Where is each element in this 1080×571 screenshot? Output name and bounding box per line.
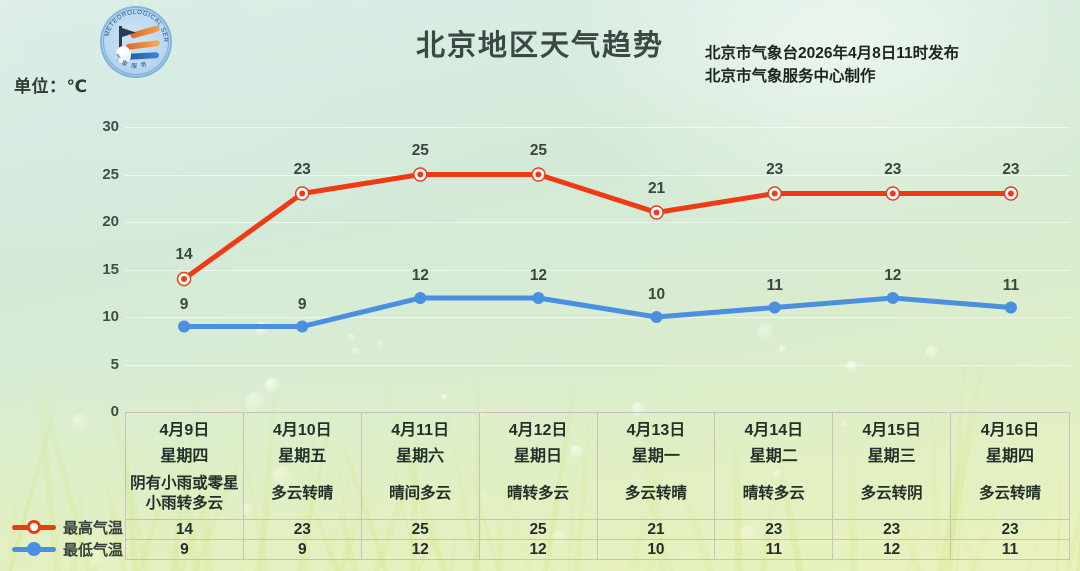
legend-item-high: 最高气温 — [12, 516, 132, 538]
legend-label-low: 最低气温 — [63, 539, 123, 560]
forecast-condition: 多云转晴 — [244, 469, 361, 519]
forecast-condition: 多云转阴 — [833, 469, 950, 519]
forecast-weekday: 星期四 — [126, 439, 243, 469]
forecast-condition: 晴转多云 — [715, 469, 832, 519]
forecast-high-temp: 21 — [598, 519, 715, 539]
forecast-weekday: 星期二 — [715, 439, 832, 469]
low-temp-value-label: 12 — [870, 267, 916, 285]
low-temp-value-label: 11 — [752, 277, 798, 295]
forecast-date: 4月11日 — [362, 413, 479, 439]
forecast-column[interactable]: 4月15日星期三多云转阴2312 — [833, 413, 951, 559]
forecast-high-temp: 25 — [480, 519, 597, 539]
low-temp-marker — [887, 292, 899, 304]
legend-item-low: 最低气温 — [12, 538, 132, 560]
forecast-low-temp: 9 — [244, 539, 361, 559]
forecast-column[interactable]: 4月16日星期四多云转晴2311 — [951, 413, 1069, 559]
forecast-date: 4月13日 — [598, 413, 715, 439]
forecast-column[interactable]: 4月11日星期六晴间多云2512 — [362, 413, 480, 559]
weather-trend-infographic: METEOROLOGICAL SERVICE 气 象 服 务 单位：℃ 北京地区… — [0, 0, 1080, 571]
forecast-date: 4月16日 — [951, 413, 1069, 439]
forecast-high-temp: 23 — [833, 519, 950, 539]
high-temp-value-label: 14 — [161, 246, 207, 264]
high-temp-marker-core — [535, 172, 541, 178]
forecast-column[interactable]: 4月12日星期日晴转多云2512 — [480, 413, 598, 559]
forecast-low-temp: 11 — [715, 539, 832, 559]
high-temp-marker-core — [181, 276, 187, 282]
forecast-weekday: 星期五 — [244, 439, 361, 469]
high-temp-value-label: 23 — [988, 161, 1034, 179]
forecast-high-temp: 25 — [362, 519, 479, 539]
low-temp-marker — [1005, 302, 1017, 314]
high-temp-value-label: 25 — [515, 142, 561, 160]
high-temp-marker-core — [654, 210, 660, 216]
forecast-low-temp: 9 — [126, 539, 243, 559]
high-temp-marker-core — [1008, 191, 1014, 197]
forecast-condition: 多云转晴 — [598, 469, 715, 519]
low-temp-marker — [651, 311, 663, 323]
forecast-weekday: 星期四 — [951, 439, 1069, 469]
forecast-condition: 阴有小雨或零星小雨转多云 — [126, 469, 243, 519]
forecast-low-temp: 11 — [951, 539, 1069, 559]
forecast-high-temp: 23 — [244, 519, 361, 539]
forecast-date: 4月15日 — [833, 413, 950, 439]
forecast-weekday: 星期三 — [833, 439, 950, 469]
high-temp-marker-core — [417, 172, 423, 178]
chart-legend: 最高气温 最低气温 — [12, 516, 132, 560]
low-temp-value-label: 12 — [515, 267, 561, 285]
low-temp-marker — [769, 302, 781, 314]
forecast-date: 4月12日 — [480, 413, 597, 439]
legend-marker-low-icon — [12, 547, 56, 552]
forecast-low-temp: 12 — [362, 539, 479, 559]
forecast-weekday: 星期一 — [598, 439, 715, 469]
forecast-high-temp: 23 — [715, 519, 832, 539]
low-temp-value-label: 11 — [988, 277, 1034, 295]
legend-dot-high-icon — [27, 520, 41, 534]
forecast-date: 4月10日 — [244, 413, 361, 439]
forecast-low-temp: 10 — [598, 539, 715, 559]
low-temp-marker — [296, 321, 308, 333]
low-temp-value-label: 10 — [634, 286, 680, 304]
high-temp-value-label: 23 — [870, 161, 916, 179]
low-temp-value-label: 9 — [161, 296, 207, 314]
low-temp-marker — [414, 292, 426, 304]
forecast-condition: 多云转晴 — [951, 469, 1069, 519]
forecast-date: 4月14日 — [715, 413, 832, 439]
legend-dot-low-icon — [27, 542, 41, 556]
forecast-condition: 晴间多云 — [362, 469, 479, 519]
forecast-weekday: 星期日 — [480, 439, 597, 469]
legend-label-high: 最高气温 — [63, 517, 123, 538]
forecast-column[interactable]: 4月9日星期四阴有小雨或零星小雨转多云149 — [126, 413, 244, 559]
forecast-column[interactable]: 4月10日星期五多云转晴239 — [244, 413, 362, 559]
high-temp-value-label: 25 — [397, 142, 443, 160]
high-temp-value-label: 21 — [634, 180, 680, 198]
high-temp-marker-core — [890, 191, 896, 197]
forecast-high-temp: 14 — [126, 519, 243, 539]
forecast-weekday: 星期六 — [362, 439, 479, 469]
forecast-table: 4月9日星期四阴有小雨或零星小雨转多云1494月10日星期五多云转晴2394月1… — [125, 412, 1070, 560]
high-temp-marker-core — [299, 191, 305, 197]
low-temp-value-label: 9 — [279, 296, 325, 314]
legend-marker-high-icon — [12, 525, 56, 530]
forecast-column[interactable]: 4月14日星期二晴转多云2311 — [715, 413, 833, 559]
forecast-date: 4月9日 — [126, 413, 243, 439]
forecast-low-temp: 12 — [833, 539, 950, 559]
high-temp-marker-core — [772, 191, 778, 197]
low-temp-marker — [178, 321, 190, 333]
forecast-condition: 晴转多云 — [480, 469, 597, 519]
high-temp-value-label: 23 — [279, 161, 325, 179]
high-temp-value-label: 23 — [752, 161, 798, 179]
forecast-high-temp: 23 — [951, 519, 1069, 539]
forecast-low-temp: 12 — [480, 539, 597, 559]
forecast-column[interactable]: 4月13日星期一多云转晴2110 — [598, 413, 716, 559]
low-temp-value-label: 12 — [397, 267, 443, 285]
low-temp-marker — [532, 292, 544, 304]
